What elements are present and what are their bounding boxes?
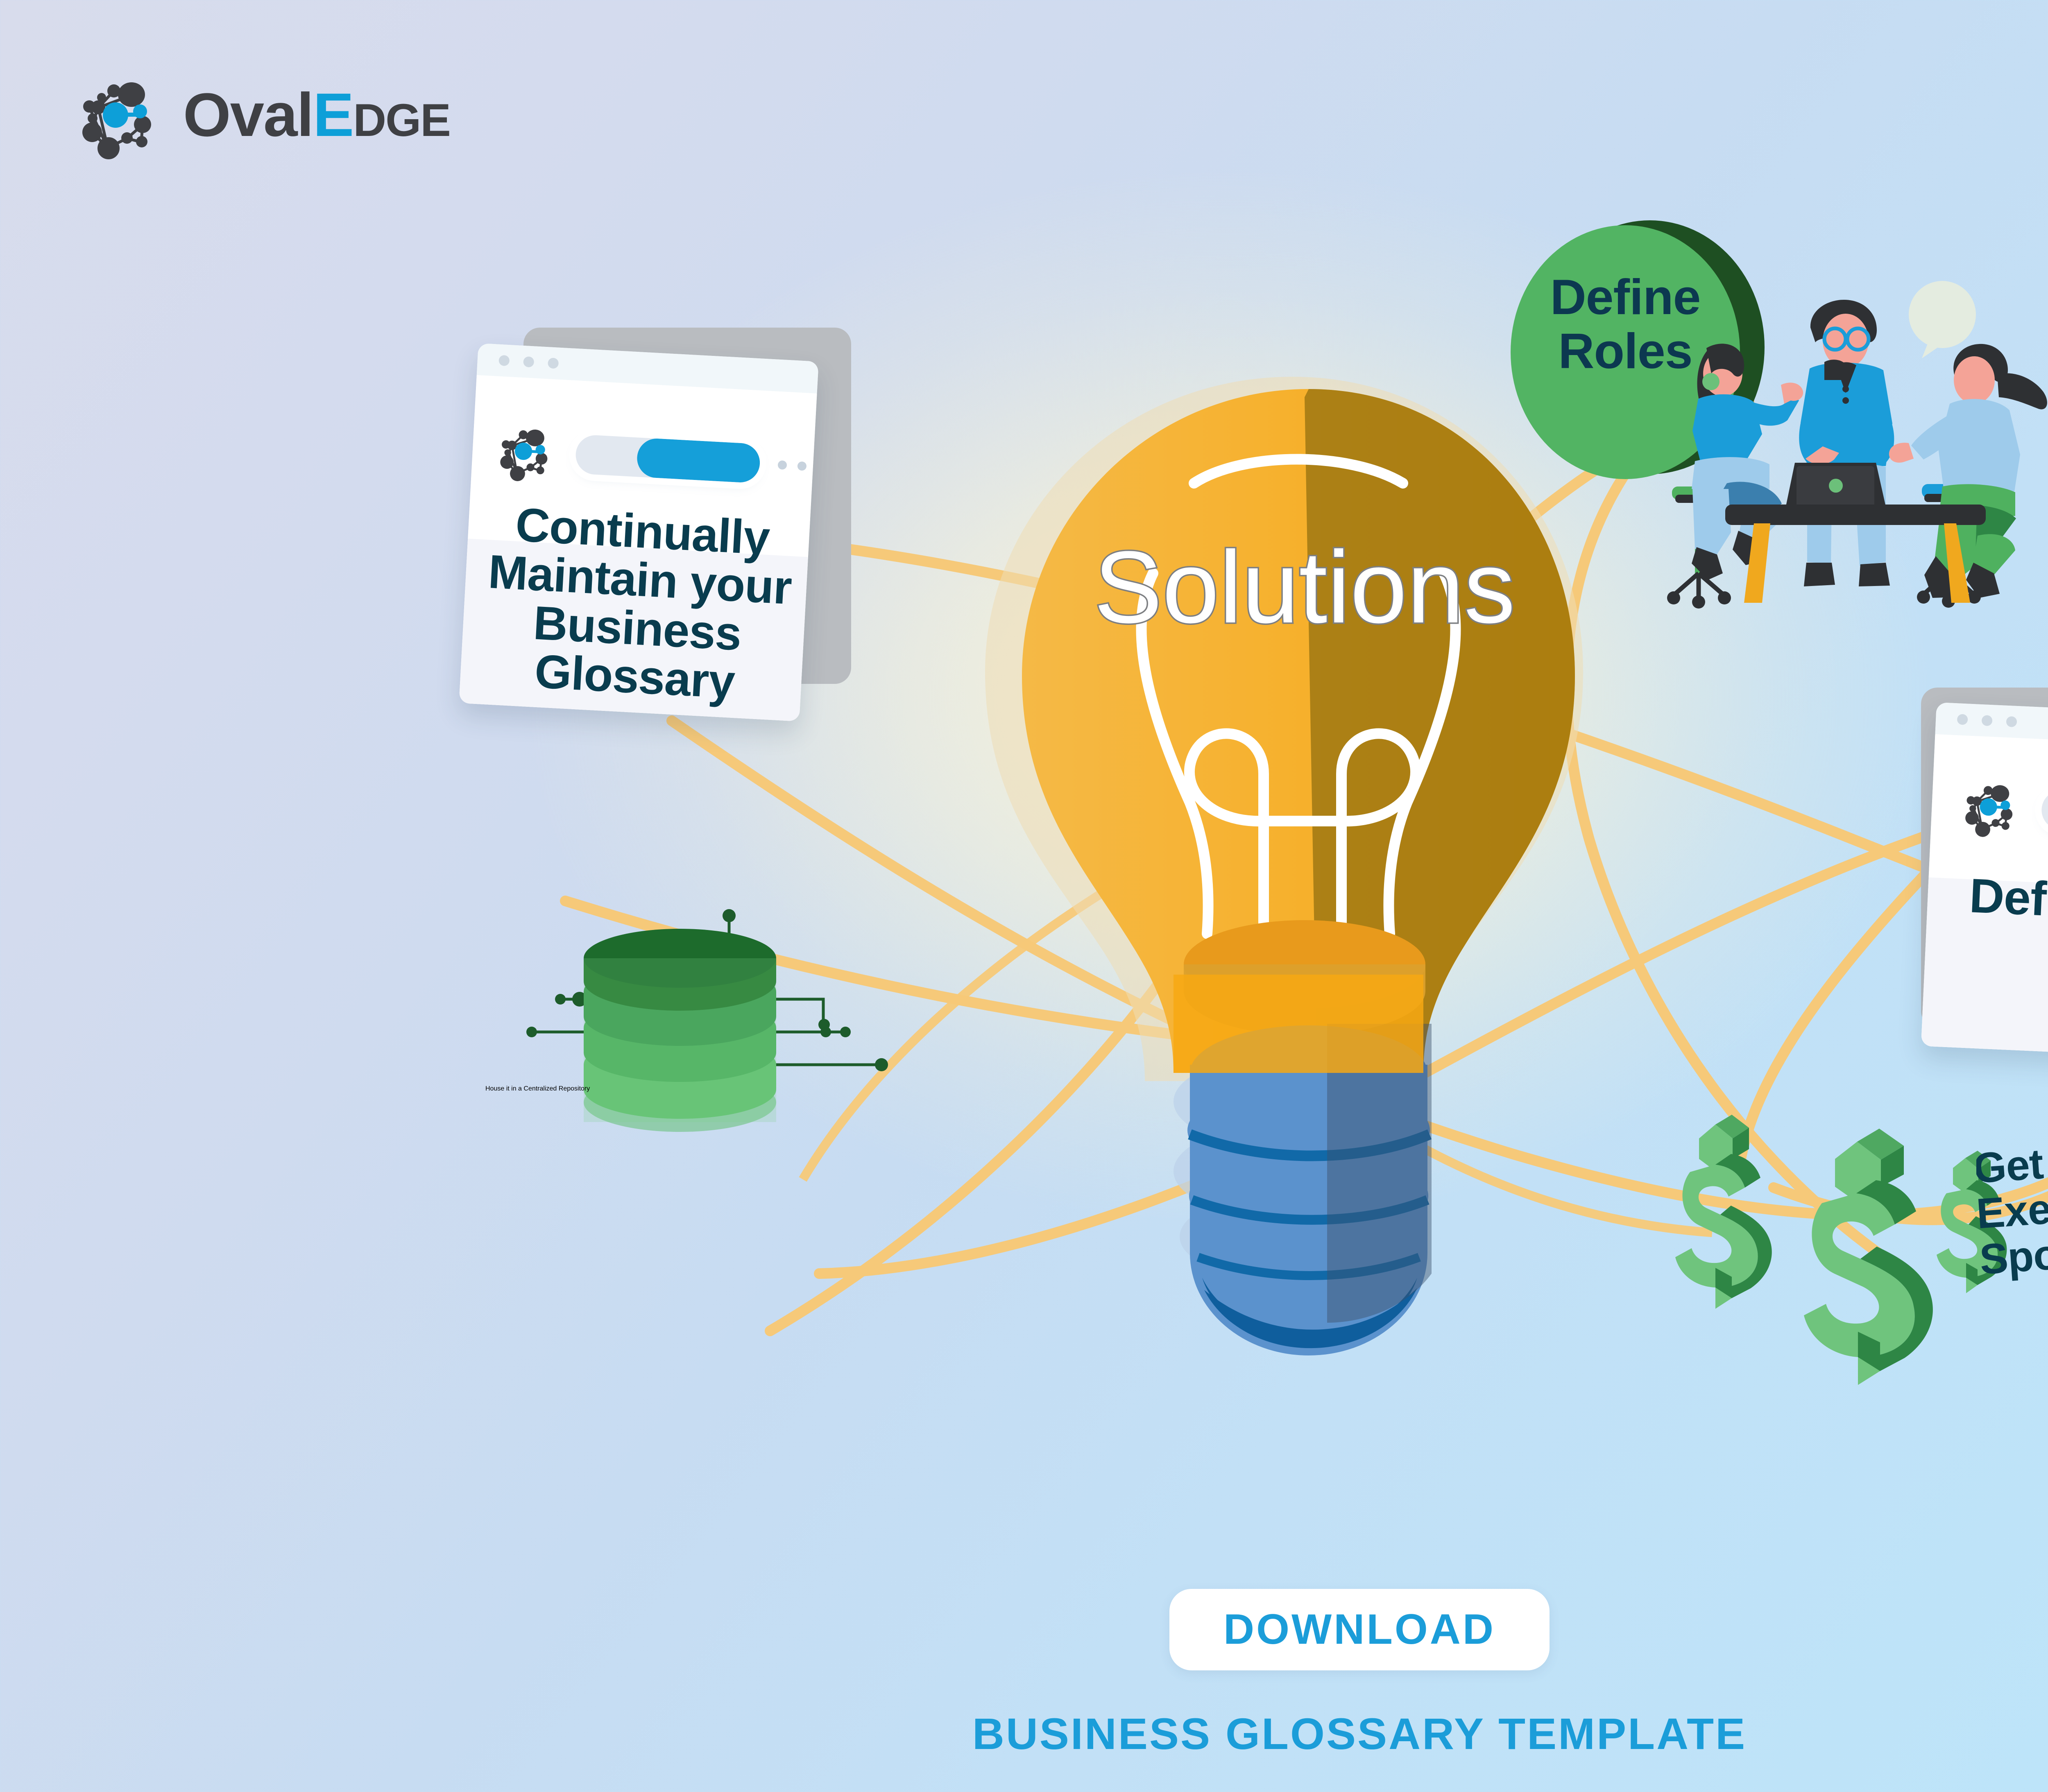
database-repository-icon — [483, 835, 942, 1278]
bulb-label: Solutions — [1094, 530, 1515, 644]
card-maintain-glossary[interactable]: Continually Maintain your Business Gloss… — [478, 324, 863, 713]
person-center — [1799, 300, 1894, 586]
brand-wordmark: OvalEDGE — [183, 84, 450, 145]
browser-window[interactable]: Continually Maintain your Business Gloss… — [459, 343, 818, 722]
dollar-signs-icon: Get Executive Sponsorship — [1651, 1077, 2048, 1396]
logo-text-oval: Oval — [183, 80, 313, 149]
logo-text-e: E — [313, 80, 353, 149]
window-dot-icon — [523, 356, 534, 367]
download-button[interactable]: DOWNLOAD — [1169, 1589, 1550, 1670]
brand-logo[interactable]: OvalEDGE — [76, 68, 450, 162]
logo-text-dge: DGE — [353, 95, 450, 146]
ovaledge-network-icon — [495, 417, 560, 485]
cta-subtitle: BUSINESS GLOSSARY TEMPLATE — [972, 1708, 1747, 1759]
infographic-canvas: OvalEDGE — [0, 0, 2048, 1792]
browser-window[interactable]: Define KPIs First — [1921, 702, 2048, 1061]
search-row — [495, 417, 819, 500]
person-right — [1889, 344, 2047, 598]
window-dot-icon — [498, 355, 510, 366]
card-define-kpis[interactable]: Define KPIs First — [1914, 682, 2048, 1063]
card-text: Continually Maintain your Business Gloss… — [476, 499, 801, 709]
browser-body: Continually Maintain your Business Gloss… — [459, 375, 817, 722]
window-dot-icon — [548, 357, 559, 369]
card-text: Define KPIs First — [1943, 870, 2048, 983]
search-row — [1960, 773, 2048, 853]
search-progress-bar[interactable] — [575, 434, 761, 483]
search-progress-fill — [636, 437, 761, 483]
overflow-dots-icon[interactable] — [777, 460, 818, 472]
search-progress-bar[interactable] — [2041, 790, 2048, 837]
team-collaboration-illustration — [1647, 270, 2048, 614]
lightbulb-solutions: Solutions — [981, 360, 1645, 1425]
person-left — [1692, 344, 1803, 580]
browser-body: Define KPIs First — [1921, 734, 2048, 1061]
cta-block: DOWNLOAD BUSINESS GLOSSARY TEMPLATE — [0, 1589, 2048, 1759]
window-dot-icon — [1982, 715, 1993, 726]
money-label: Get Executive Sponsorship — [1976, 1138, 2048, 1283]
ovaledge-network-icon — [1960, 773, 2024, 841]
speech-bubble-icon — [1909, 281, 1976, 358]
window-dot-icon — [1957, 714, 1968, 725]
ovaledge-network-icon — [76, 68, 166, 162]
window-dot-icon — [2006, 716, 2017, 727]
